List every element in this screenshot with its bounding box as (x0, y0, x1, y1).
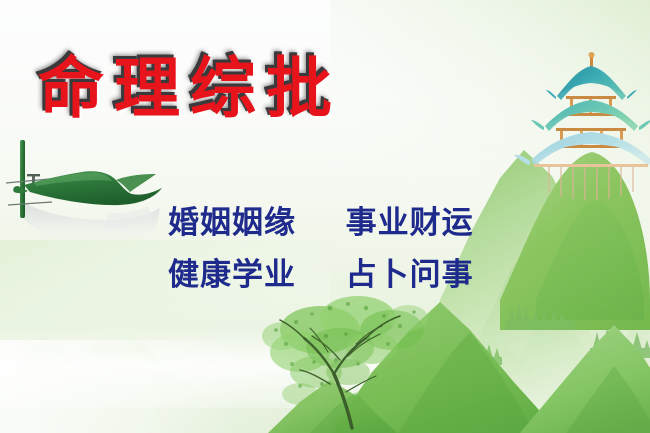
subtitle-line-2: 健康学业 占卜问事 (168, 258, 474, 294)
subtitle-1-left: 婚姻姻缘 (168, 205, 296, 241)
page-title: 命理综批 (38, 52, 342, 126)
subtitle-2-left: 健康学业 (168, 257, 296, 293)
subtitle-block: 婚姻姻缘 事业财运 健康学业 占卜问事 (168, 206, 474, 293)
title-block: 命理综批 (38, 52, 342, 126)
subtitle-1-right: 事业财运 (346, 205, 474, 241)
subtitle-2-right: 占卜问事 (346, 257, 474, 293)
subtitle-line-1: 婚姻姻缘 事业财运 (168, 206, 474, 242)
banner-canvas: 命理综批 婚姻姻缘 事业财运 健康学业 占卜问事 (0, 0, 650, 433)
